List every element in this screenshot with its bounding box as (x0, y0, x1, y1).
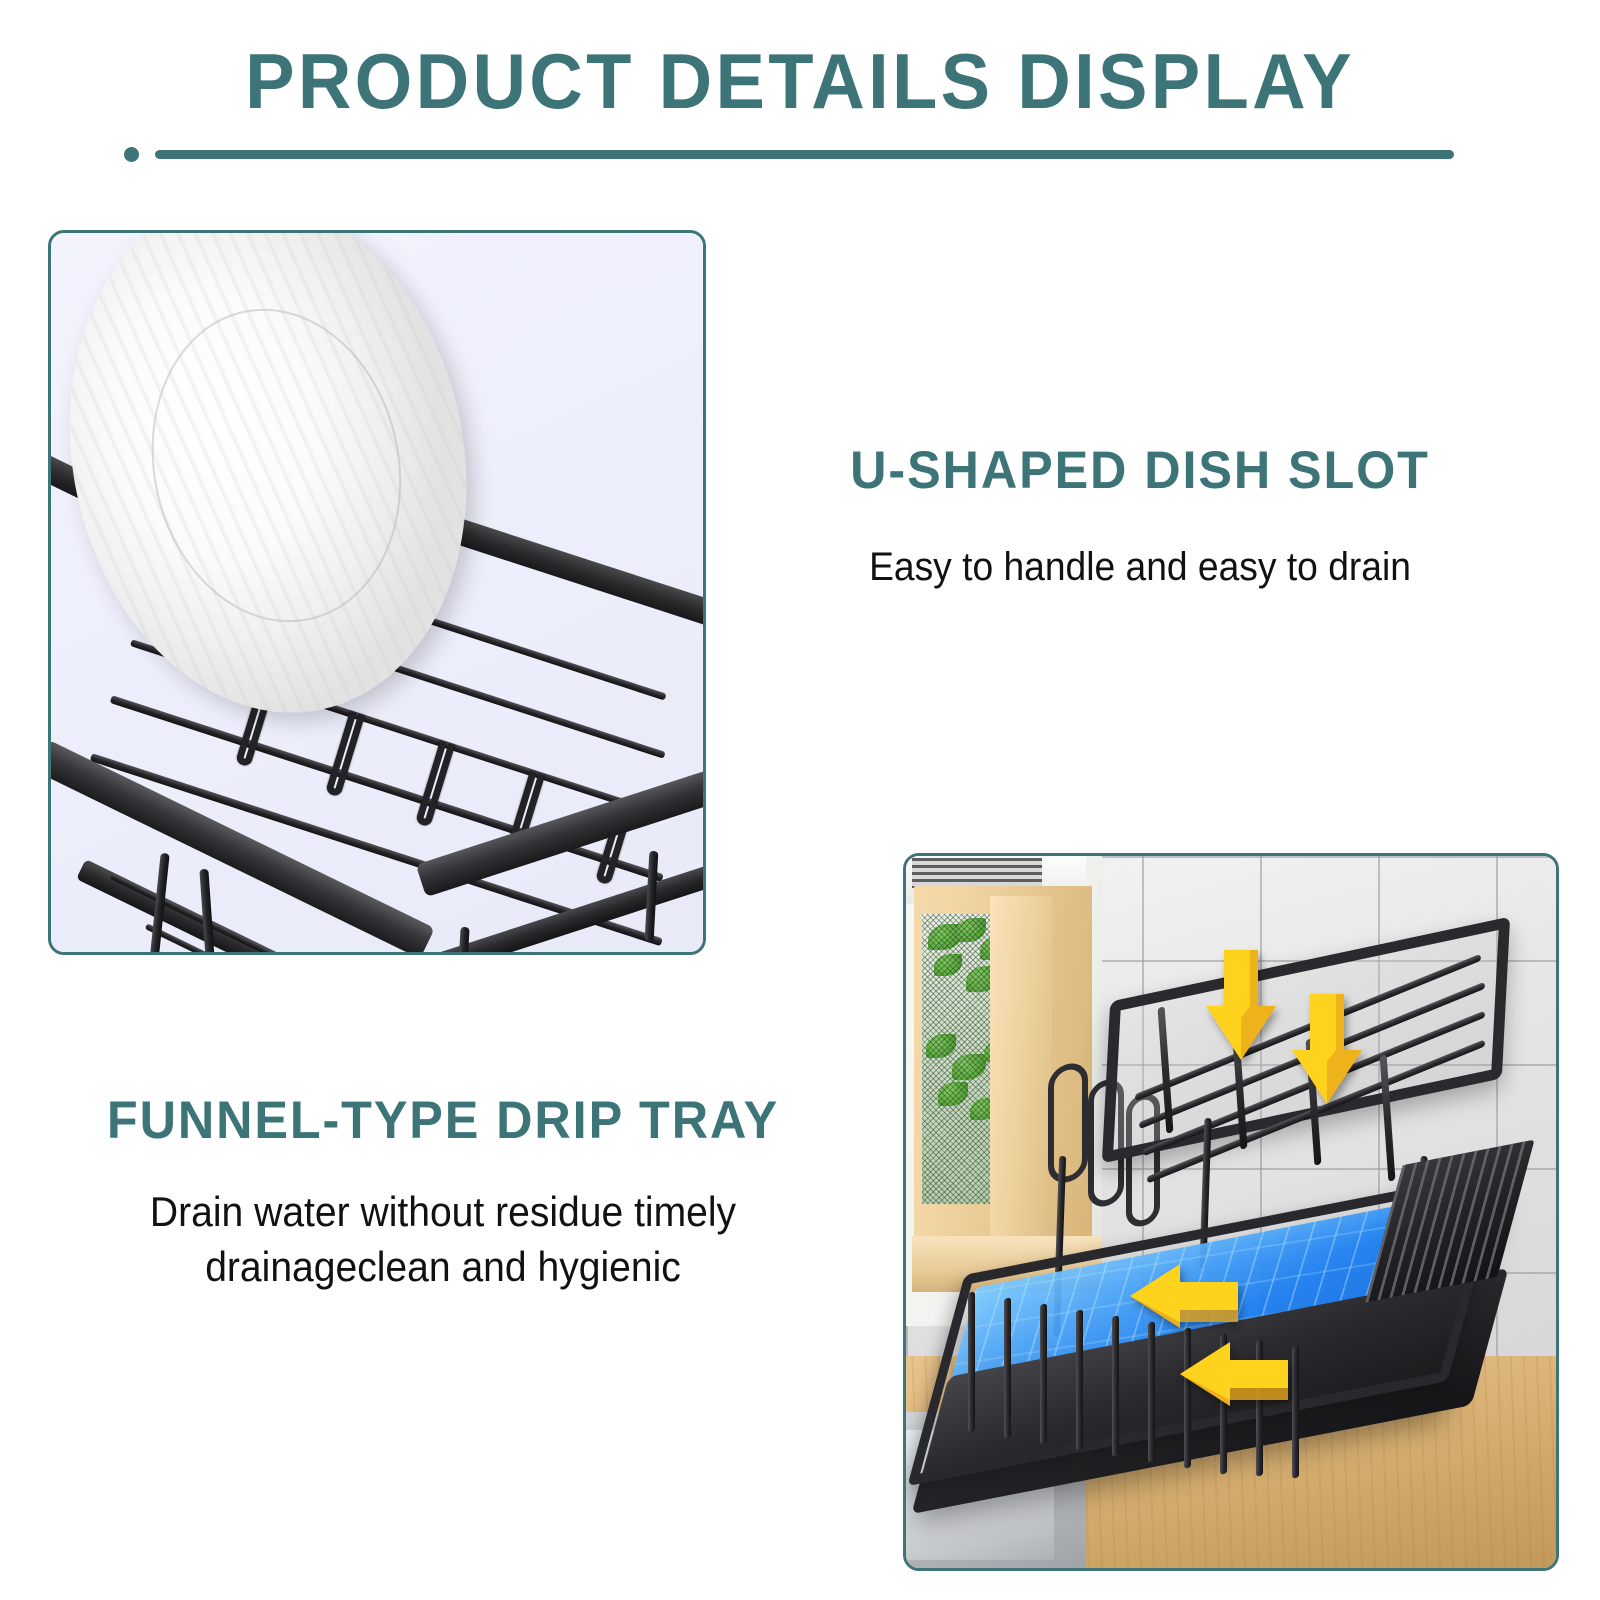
lower-rack-bar (1292, 1345, 1299, 1478)
flow-arrow-down-icon (1202, 948, 1278, 1068)
window-frame-inner (990, 896, 1052, 1278)
feature-block-u-shaped-dish-slot: U-SHAPED DISH SLOT Easy to handle and ea… (740, 440, 1540, 593)
lower-rack-bar (1004, 1297, 1011, 1438)
utensil-holder-loop (1048, 1060, 1088, 1187)
title-divider (124, 146, 1454, 162)
feature-body-funnel-type-drip-tray: Drain water without residue timely drain… (57, 1185, 829, 1294)
page-title: PRODUCT DETAILS DISPLAY (40, 36, 1560, 127)
lower-rack-bar (1148, 1321, 1155, 1462)
lower-rack-bar (1040, 1303, 1047, 1444)
window-blind (912, 858, 1042, 888)
panel-image-u-shaped-dish-slot (51, 233, 703, 952)
flow-arrow-down-icon (1288, 992, 1364, 1112)
photo-panel-funnel-type-drip-tray (903, 853, 1559, 1571)
feature-block-funnel-type-drip-tray: FUNNEL-TYPE DRIP TRAY Drain water withou… (28, 1090, 858, 1294)
infographic-page: PRODUCT DETAILS DISPLAY (0, 0, 1600, 1600)
feature-body-u-shaped-dish-slot: Easy to handle and easy to drain (768, 541, 1512, 593)
panel-image-funnel-type-drip-tray (906, 856, 1556, 1568)
drain-arrow-left-icon (1178, 1338, 1290, 1410)
header: PRODUCT DETAILS DISPLAY (0, 0, 1600, 190)
lower-rack-bar (1112, 1315, 1119, 1456)
divider-line (155, 150, 1454, 159)
lower-rack-bar (968, 1291, 975, 1432)
divider-dot-icon (124, 147, 139, 162)
lower-rack-bar (1076, 1309, 1083, 1450)
drain-arrow-left-icon (1128, 1260, 1240, 1332)
feature-heading-u-shaped-dish-slot: U-SHAPED DISH SLOT (760, 440, 1520, 501)
photo-panel-u-shaped-dish-slot (48, 230, 706, 955)
feature-heading-funnel-type-drip-tray: FUNNEL-TYPE DRIP TRAY (49, 1090, 838, 1151)
